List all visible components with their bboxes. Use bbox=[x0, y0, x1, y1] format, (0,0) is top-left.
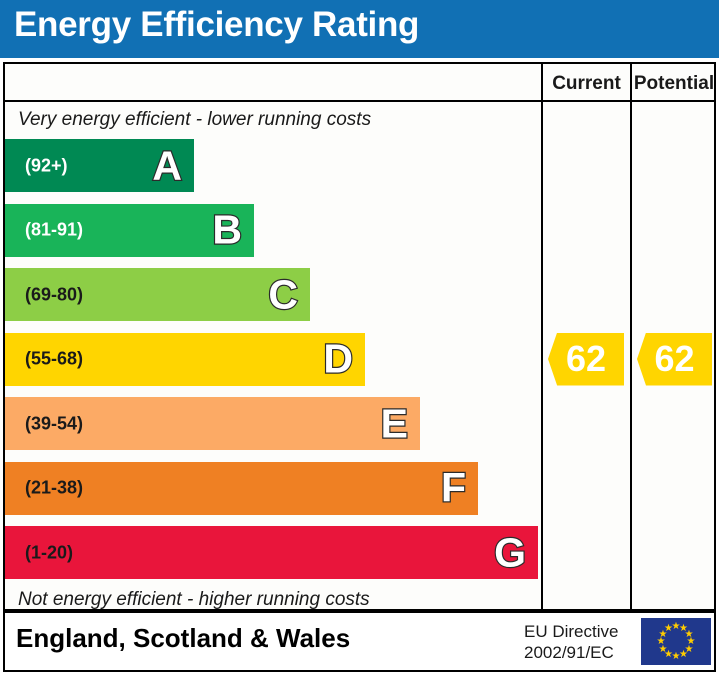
band-range-c: (69-80) bbox=[25, 284, 83, 305]
band-letter-g: G bbox=[494, 532, 526, 573]
band-letter-c: C bbox=[268, 274, 298, 315]
footer-directive-line1: EU Directive bbox=[524, 621, 634, 642]
band-range-a: (92+) bbox=[25, 155, 68, 176]
band-letter-d: D bbox=[323, 339, 353, 380]
column-header-current: Current bbox=[543, 70, 630, 98]
band-g: (1-20)G bbox=[5, 526, 538, 579]
band-c: (69-80)C bbox=[5, 268, 310, 321]
column-divider-current bbox=[541, 62, 543, 611]
rating-value-current: 62 bbox=[548, 333, 624, 386]
band-e: (39-54)E bbox=[5, 397, 420, 450]
column-header-potential: Potential bbox=[632, 70, 716, 98]
band-letter-a: A bbox=[152, 145, 182, 186]
band-range-f: (21-38) bbox=[25, 478, 83, 499]
footer-directive-line2: 2002/91/EC bbox=[524, 642, 634, 663]
band-range-b: (81-91) bbox=[25, 220, 83, 241]
eu-flag-icon: ★★★★★★★★★★★★ bbox=[641, 618, 711, 665]
footer-directive: EU Directive 2002/91/EC bbox=[524, 621, 634, 663]
footer-region-label: England, Scotland & Wales bbox=[16, 623, 350, 654]
band-letter-b: B bbox=[212, 210, 242, 251]
band-range-d: (55-68) bbox=[25, 349, 83, 370]
page-title: Energy Efficiency Rating bbox=[14, 5, 419, 45]
band-letter-e: E bbox=[381, 403, 408, 444]
energy-efficiency-rating-chart: Energy Efficiency Rating Current Potenti… bbox=[0, 0, 719, 675]
rating-value-potential: 62 bbox=[637, 333, 712, 386]
band-range-e: (39-54) bbox=[25, 413, 83, 434]
band-a: (92+)A bbox=[5, 139, 194, 192]
band-b: (81-91)B bbox=[5, 204, 254, 257]
band-f: (21-38)F bbox=[5, 462, 478, 515]
caption-not-efficient: Not energy efficient - higher running co… bbox=[18, 589, 370, 611]
band-d: (55-68)D bbox=[5, 333, 365, 386]
column-header-rule bbox=[3, 100, 716, 102]
column-divider-potential bbox=[630, 62, 632, 611]
band-range-g: (1-20) bbox=[25, 542, 73, 563]
eu-star-icon: ★ bbox=[664, 624, 673, 633]
caption-very-efficient: Very energy efficient - lower running co… bbox=[18, 109, 371, 131]
band-letter-f: F bbox=[441, 468, 466, 509]
